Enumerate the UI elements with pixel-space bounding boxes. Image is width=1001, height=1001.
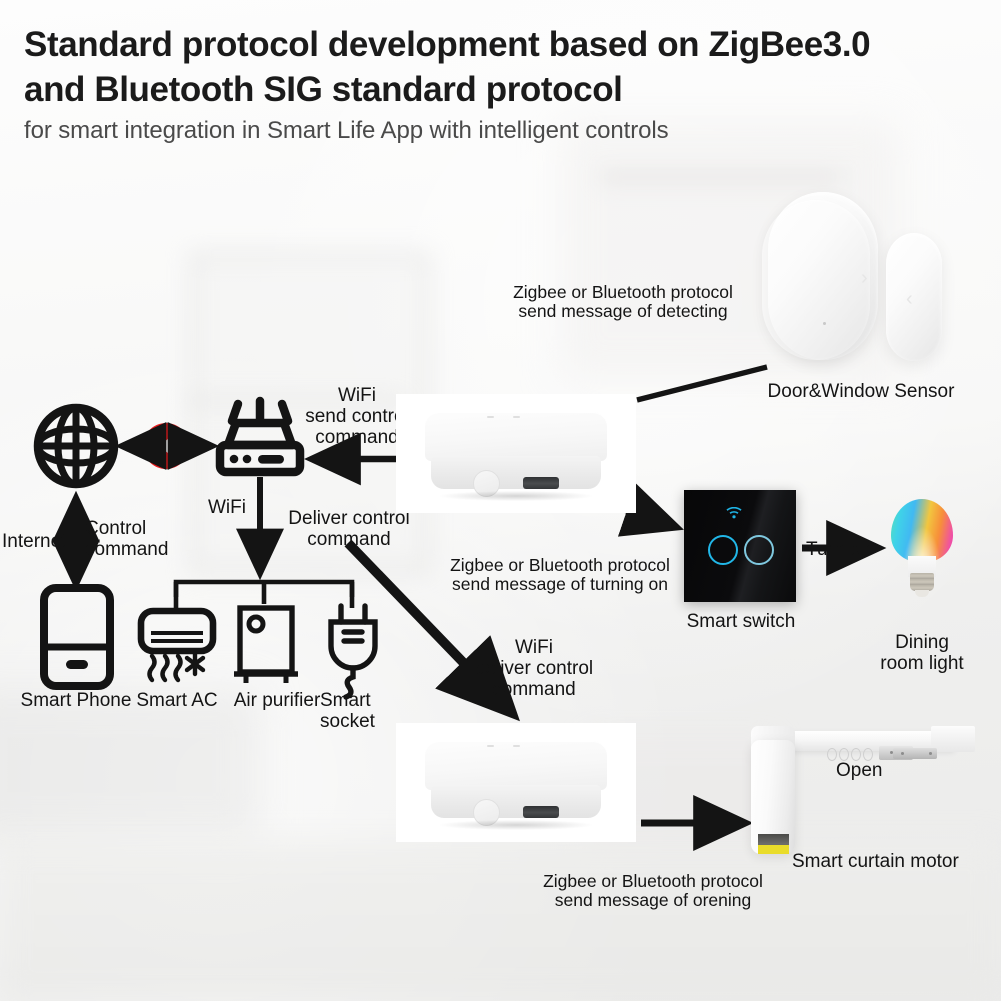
- gateway-led-4: [513, 745, 520, 747]
- sensor-chevron-left-icon: ‹: [906, 289, 913, 309]
- bulb-tip: [915, 590, 930, 597]
- product-label-dining-room-light: Dining room light: [861, 632, 983, 674]
- gateway-led-1: [487, 416, 494, 418]
- air-purifier-icon: [234, 608, 298, 683]
- zigbee-gateway-icon: [425, 412, 607, 496]
- device-label-smart-ac: Smart AC: [130, 690, 224, 711]
- gateway-led-2: [513, 416, 520, 418]
- globe-icon: [34, 404, 118, 488]
- device-label-smart-socket: Smart socket: [320, 690, 392, 732]
- bulb-rgb-dome: [891, 499, 953, 562]
- sensor-chevron-right-icon: ›: [861, 268, 868, 288]
- caption-sensor-detect: Zigbee or Bluetooth protocol send messag…: [494, 283, 752, 321]
- router-indicator-lights: [230, 455, 284, 464]
- product-label-door-window-sensor: Door&Window Sensor: [766, 381, 956, 402]
- curtain-hook-1: [827, 748, 837, 761]
- label-deliver-control: Deliver control command: [274, 508, 424, 550]
- label-turn-on: Turn on: [806, 539, 871, 560]
- gateway-led-3: [487, 745, 494, 747]
- carrier-dot-1: [890, 751, 893, 754]
- bulb-screw-base: [910, 573, 934, 592]
- sensor-main-body-backplate: [762, 200, 870, 360]
- gateway-front-shell-2: [431, 785, 601, 819]
- line-gateway-to-sensor: [637, 367, 767, 400]
- label-wifi-router: WiFi: [208, 497, 246, 518]
- dining-room-light-bulb: [891, 499, 953, 597]
- switch-touch-button-1[interactable]: [708, 535, 738, 565]
- label-open: Open: [836, 760, 882, 781]
- product-label-smart-switch: Smart switch: [668, 611, 814, 632]
- smart-phone-icon: [44, 588, 110, 686]
- curtain-hook-2: [839, 748, 849, 761]
- gateway-front-shell: [431, 456, 601, 490]
- switch-wifi-icon: [726, 507, 742, 519]
- sensor-led-dot: [823, 322, 826, 325]
- gateway-usb-port-2: [523, 806, 559, 818]
- red-x-icon: [143, 423, 189, 469]
- label-internet: Internet: [2, 531, 66, 552]
- label-wifi-deliver-control: WiFi deliver control command: [464, 637, 604, 700]
- gateway-photo-upper: [396, 394, 636, 513]
- switch-touch-button-2[interactable]: [744, 535, 774, 565]
- sensor-magnet-body: [886, 233, 942, 361]
- curtain-hook-4: [863, 748, 873, 761]
- device-label-smart-phone: Smart Phone: [11, 690, 141, 711]
- curtain-hook-3: [851, 748, 861, 761]
- gateway-shadow: [440, 491, 593, 501]
- carrier-dot-3: [929, 752, 932, 755]
- smart-switch[interactable]: [684, 490, 796, 602]
- product-label-smart-curtain-motor: Smart curtain motor: [792, 851, 982, 872]
- caption-switch-turning-on: Zigbee or Bluetooth protocol send messag…: [434, 556, 686, 594]
- zigbee-gateway-icon-2: [425, 741, 607, 825]
- power-plug-icon: [331, 606, 375, 697]
- curtain-rail-end-cap: [931, 726, 975, 752]
- gateway-top-shell: [425, 412, 607, 461]
- gateway-photo-lower: [396, 723, 636, 842]
- infographic-canvas: Standard protocol development based on Z…: [0, 0, 1001, 1001]
- label-control-command: Control command: [85, 518, 168, 560]
- gateway-top-shell-2: [425, 741, 607, 790]
- curtain-motor-yellow-label: [758, 845, 789, 854]
- gateway-shadow-2: [440, 820, 593, 830]
- carrier-dot-2: [901, 752, 904, 755]
- gateway-usb-port: [523, 477, 559, 489]
- device-label-air-purifier: Air purifier: [222, 690, 332, 711]
- caption-curtain-opening: Zigbee or Bluetooth protocol send messag…: [524, 872, 782, 910]
- air-conditioner-icon: [141, 611, 213, 680]
